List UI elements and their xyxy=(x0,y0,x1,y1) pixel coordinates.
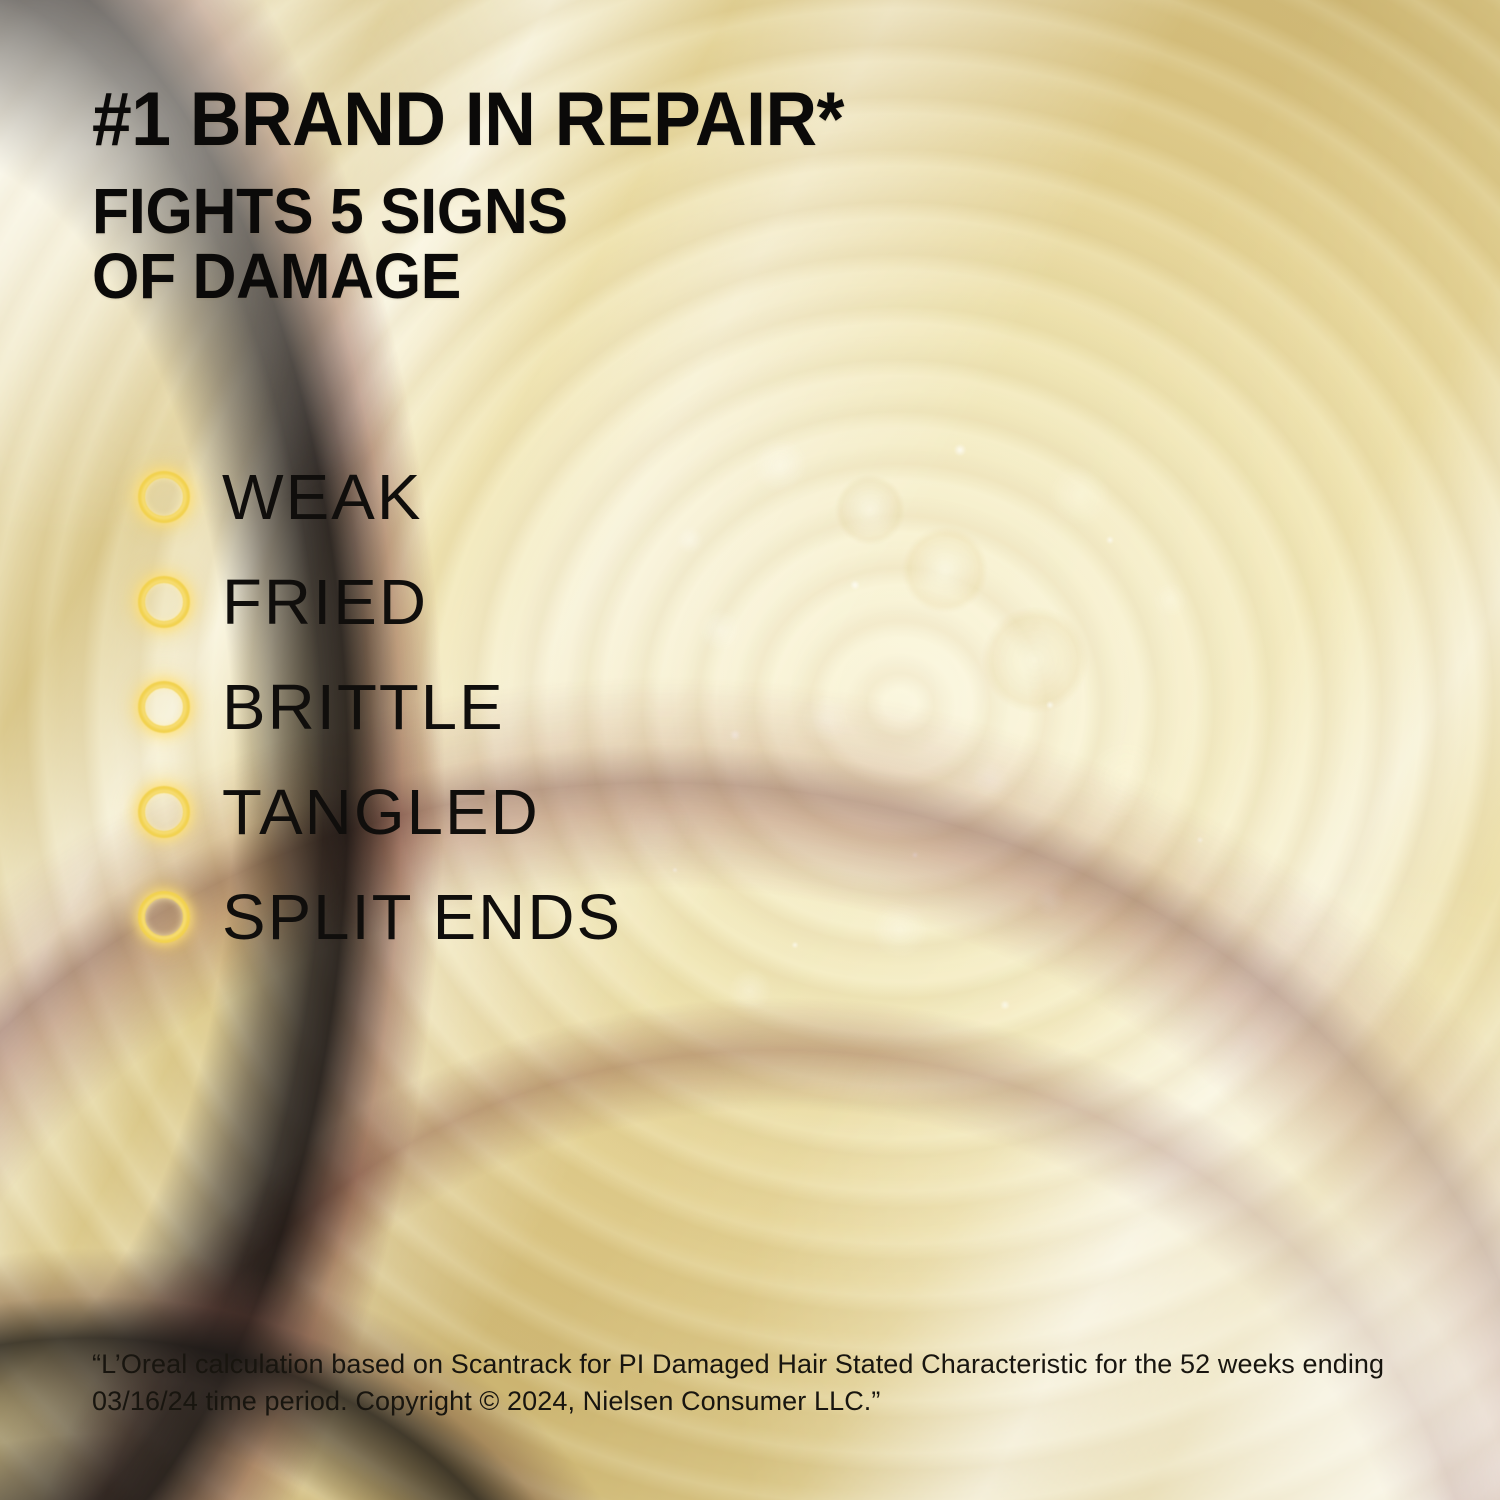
damage-sign-label: BRITTLE xyxy=(222,675,505,739)
panel-content: #1 BRAND IN REPAIR* FIGHTS 5 SIGNS OF DA… xyxy=(0,0,1500,1500)
headline-secondary-line-2: OF DAMAGE xyxy=(92,244,852,309)
promo-panel: #1 BRAND IN REPAIR* FIGHTS 5 SIGNS OF DA… xyxy=(0,0,1500,1500)
damage-sign-label: TANGLED xyxy=(222,780,540,844)
damage-signs-list: WEAK FRIED BRITTLE TANGLED SPLIT ENDS xyxy=(138,444,614,969)
list-item: SPLIT ENDS xyxy=(138,864,614,969)
gold-ring-icon xyxy=(138,681,190,733)
list-item: TANGLED xyxy=(138,759,614,864)
gold-ring-icon xyxy=(138,891,190,943)
headline-secondary-line-1: FIGHTS 5 SIGNS xyxy=(92,179,852,244)
headline-block: #1 BRAND IN REPAIR* FIGHTS 5 SIGNS OF DA… xyxy=(92,84,892,309)
damage-sign-label: SPLIT ENDS xyxy=(222,885,622,949)
list-item: BRITTLE xyxy=(138,654,614,759)
gold-ring-icon xyxy=(138,576,190,628)
gold-ring-icon xyxy=(138,471,190,523)
list-item: WEAK xyxy=(138,444,614,549)
damage-sign-label: WEAK xyxy=(222,465,422,529)
gold-ring-icon xyxy=(138,786,190,838)
legal-footnote: “L’Oreal calculation based on Scantrack … xyxy=(92,1346,1412,1421)
headline-primary: #1 BRAND IN REPAIR* xyxy=(92,84,844,157)
damage-sign-label: FRIED xyxy=(222,570,428,634)
headline-secondary: FIGHTS 5 SIGNS OF DAMAGE xyxy=(92,179,852,310)
list-item: FRIED xyxy=(138,549,614,654)
